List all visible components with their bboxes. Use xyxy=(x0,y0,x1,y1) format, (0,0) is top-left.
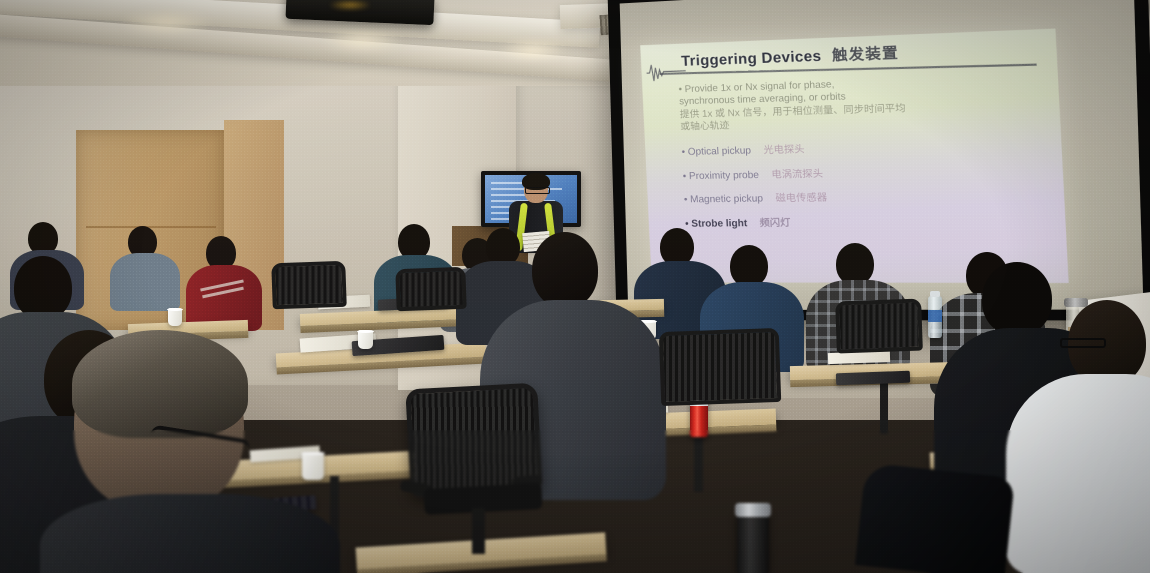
torso xyxy=(110,253,180,311)
laptop xyxy=(836,371,910,386)
paper-stack xyxy=(828,351,890,364)
office-chair xyxy=(835,299,923,354)
projector-lamp-glow xyxy=(330,0,370,10)
bullet-en: • Proximity probe xyxy=(683,169,760,182)
paper-cup xyxy=(168,308,182,326)
torso xyxy=(1006,374,1150,573)
paper-cup xyxy=(358,330,373,349)
bullet-en: • Optical pickup xyxy=(681,145,751,158)
chair-post xyxy=(472,508,485,554)
bullet-cn: 电涡流探头 xyxy=(771,168,823,180)
cove-glow xyxy=(320,28,404,52)
slide-bullet-optical-pickup: • Optical pickup光电探头 xyxy=(681,139,1052,158)
bullet-cn: 频闪灯 xyxy=(759,217,790,229)
desk-leg xyxy=(880,378,888,434)
head xyxy=(836,243,874,285)
head xyxy=(982,262,1052,336)
slide-bullet-list: • Provide 1x or Nx signal for phase, syn… xyxy=(678,72,1056,230)
slide-bullet-magnetic-pickup: • Magnetic pickup磁电传感器 xyxy=(684,189,1056,205)
cove-glow xyxy=(498,40,568,60)
slide-lead-bullet: • Provide 1x or Nx signal for phase, syn… xyxy=(678,72,1051,134)
bullet-cn: 光电探头 xyxy=(763,144,805,156)
classroom-photo: Triggering Devices触发装置 • Provide 1x or N… xyxy=(0,0,1150,573)
cove-glow xyxy=(118,10,214,36)
head xyxy=(14,256,72,320)
glasses xyxy=(1060,338,1106,348)
torso xyxy=(40,494,340,573)
bottle-label xyxy=(928,310,942,322)
jar-lid xyxy=(1064,298,1088,307)
bullet-en: • Strobe light xyxy=(685,218,748,230)
office-chair xyxy=(395,267,466,311)
bullet-en: • Magnetic pickup xyxy=(684,193,764,205)
office-chair xyxy=(271,261,347,310)
paper-cup xyxy=(302,452,324,480)
slide-bullet-proximity-probe: • Proximity probe电涡流探头 xyxy=(683,164,1054,182)
thermos-lid xyxy=(735,503,771,517)
office-chair xyxy=(659,328,782,406)
water-bottle xyxy=(928,296,942,338)
bullet-cn: 磁电传感器 xyxy=(775,193,827,205)
slide-title-en: Triggering Devices xyxy=(681,48,822,70)
thermos-flask xyxy=(737,512,769,573)
hair xyxy=(72,330,248,438)
office-chair xyxy=(408,386,548,546)
presenter-glasses xyxy=(525,187,550,194)
slide-bullet-strobe-light: • Strobe light频闪灯 xyxy=(685,215,1057,230)
bottle-cap xyxy=(930,291,940,297)
head xyxy=(532,232,598,308)
foreground-shadow-mass xyxy=(855,462,1015,573)
head xyxy=(730,245,768,287)
desk-leg xyxy=(694,428,703,492)
slide-title-cn: 触发装置 xyxy=(832,45,900,64)
